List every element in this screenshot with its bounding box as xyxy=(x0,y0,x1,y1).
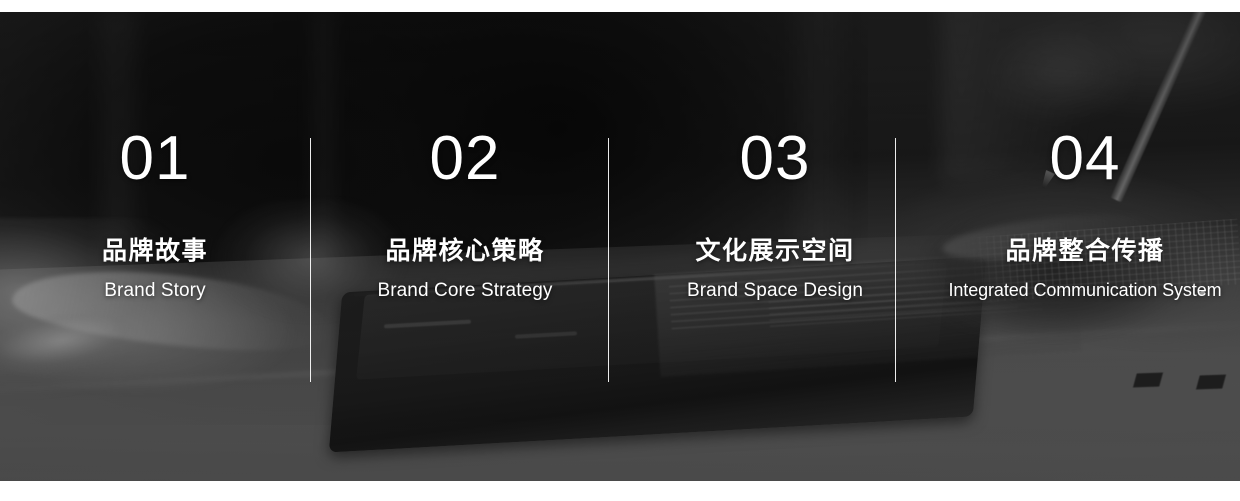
step-title-en: Brand Story xyxy=(0,278,310,303)
step-number: 02 xyxy=(310,128,620,190)
step-title-en: Integrated Communication System xyxy=(930,278,1240,303)
process-step-01[interactable]: 01 品牌故事 Brand Story xyxy=(0,0,310,501)
process-step-03[interactable]: 03 文化展示空间 Brand Space Design xyxy=(620,0,930,501)
step-title-cn: 品牌核心策略 xyxy=(310,236,620,266)
step-title-cn: 文化展示空间 xyxy=(620,236,930,266)
step-number: 01 xyxy=(0,128,310,190)
step-title-en: Brand Core Strategy xyxy=(310,278,620,303)
column-divider-1 xyxy=(310,138,311,382)
column-divider-2 xyxy=(608,138,609,382)
step-title-cn: 品牌故事 xyxy=(0,236,310,266)
process-step-02[interactable]: 02 品牌核心策略 Brand Core Strategy xyxy=(310,0,620,501)
brand-process-banner: 01 品牌故事 Brand Story 02 品牌核心策略 Brand Core… xyxy=(0,0,1240,501)
step-number: 03 xyxy=(620,128,930,190)
process-step-04[interactable]: 04 品牌整合传播 Integrated Communication Syste… xyxy=(930,0,1240,501)
column-divider-3 xyxy=(895,138,896,382)
process-columns: 01 品牌故事 Brand Story 02 品牌核心策略 Brand Core… xyxy=(0,0,1240,501)
step-number: 04 xyxy=(930,128,1240,190)
step-title-cn: 品牌整合传播 xyxy=(930,236,1240,266)
step-title-en: Brand Space Design xyxy=(620,278,930,303)
